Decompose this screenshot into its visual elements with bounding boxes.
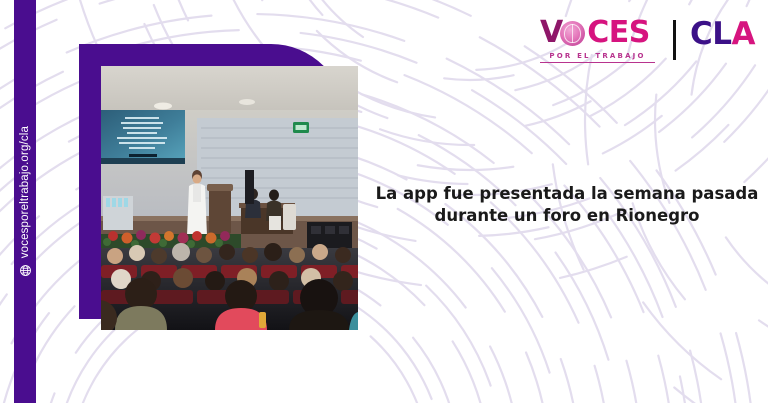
logo-cla-letter-l: L bbox=[712, 16, 731, 52]
globe-icon bbox=[19, 264, 32, 277]
logo-cla-letter-c: C bbox=[690, 16, 712, 52]
logo-secondary-wordmark: CLA bbox=[690, 18, 755, 51]
headline: La app fue presentada la semana pasada d… bbox=[372, 183, 762, 227]
brain-icon bbox=[560, 21, 585, 46]
logo-letter-s: S bbox=[629, 15, 650, 50]
graphic-canvas: vocesporeltrabajo.org/cla bbox=[0, 0, 768, 403]
logo-divider bbox=[673, 20, 676, 60]
brand-logo: VOCES POR EL TRABAJO CLA bbox=[540, 18, 750, 74]
logo-letter-c: C bbox=[587, 15, 609, 50]
headline-line-2: durante un foro en Rionegro bbox=[372, 205, 762, 227]
website-url-text: vocesporeltrabajo.org/cla bbox=[19, 126, 31, 258]
logo-cla-letter-a: A bbox=[732, 16, 756, 52]
logo-voces-lockup: VOCES POR EL TRABAJO bbox=[540, 18, 658, 63]
logo-wordmark: VOCES bbox=[540, 18, 658, 50]
headline-line-1: La app fue presentada la semana pasada bbox=[372, 183, 762, 205]
logo-tagline: POR EL TRABAJO bbox=[540, 52, 655, 63]
logo-letter-e: E bbox=[609, 15, 629, 50]
logo-letter-v: V bbox=[540, 15, 562, 50]
website-url-bar[interactable]: vocesporeltrabajo.org/cla bbox=[14, 0, 36, 403]
event-photo bbox=[101, 66, 358, 330]
